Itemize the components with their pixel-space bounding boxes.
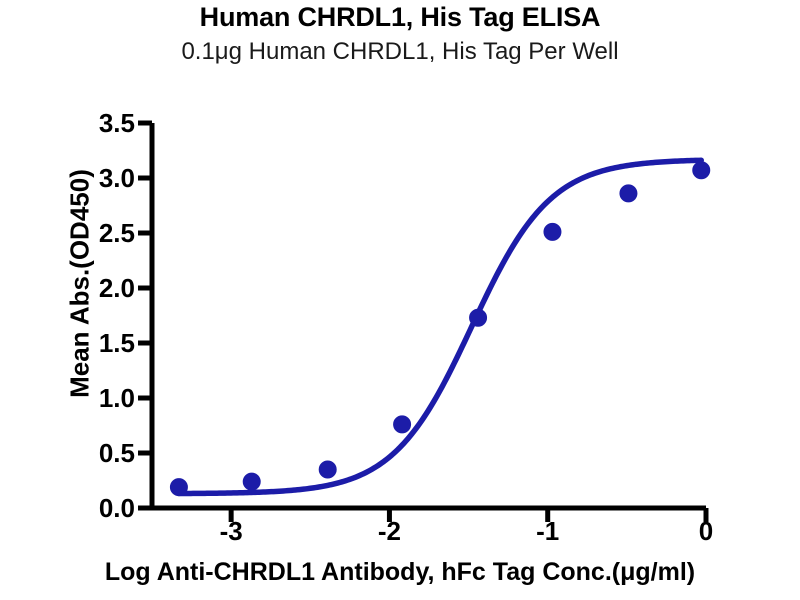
data-point-marker (470, 309, 487, 326)
fit-curve (179, 160, 701, 493)
data-point-marker (544, 223, 561, 240)
elisa-chart-figure: Human CHRDL1, His Tag ELISA 0.1μg Human … (0, 0, 800, 600)
series-data-points (170, 162, 709, 496)
data-point-marker (620, 185, 637, 202)
data-point-marker (693, 162, 710, 179)
axis-lines (150, 123, 707, 508)
data-point-marker (170, 479, 187, 496)
series-fit-curve (179, 160, 701, 493)
plot-area (0, 0, 800, 600)
data-point-marker (319, 461, 336, 478)
data-point-marker (394, 416, 411, 433)
data-point-marker (243, 473, 260, 490)
